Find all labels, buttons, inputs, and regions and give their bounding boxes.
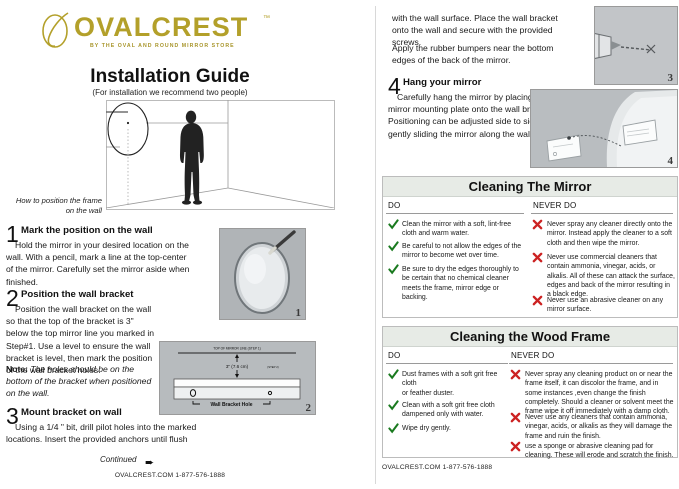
- red-x-icon: [532, 295, 543, 306]
- step-2-note: Note: The holes should be on the bottom …: [6, 363, 158, 400]
- svg-text:3" (7.6 cm): 3" (7.6 cm): [226, 364, 249, 369]
- photo-1-caption: 1: [296, 307, 302, 319]
- brand-tagline: BY THE OVAL AND ROUND MIRROR STORE: [90, 43, 235, 49]
- green-check-icon: [388, 423, 399, 434]
- frame-do-item-3: Wipe dry gently.: [402, 424, 506, 433]
- care-panel-mirror: Cleaning The Mirror DO NEVER DO Clean th…: [382, 176, 678, 318]
- frame-do-rule: [386, 363, 508, 364]
- photo-step-4: 4: [530, 89, 678, 168]
- green-check-icon: [388, 369, 399, 380]
- arrow-right-icon: ➨: [145, 456, 154, 469]
- mirror-do-rule: [386, 213, 524, 214]
- photo-step-3: 3: [594, 6, 678, 85]
- oval-monogram-icon: [38, 10, 78, 50]
- care-panel-frame-title: Cleaning the Wood Frame: [383, 327, 677, 347]
- frame-never-item-3: use a sponge or abrasive cleaning pad fo…: [525, 442, 675, 461]
- green-check-icon: [388, 400, 399, 411]
- column-divider: [375, 6, 376, 484]
- person-silhouette: [180, 111, 204, 205]
- footer-left: OVALCREST.COM 1-877-576-1888: [0, 472, 340, 479]
- photo-3-caption: 3: [668, 72, 674, 84]
- continued-paragraph-2: Apply the rubber bumpers near the bottom…: [392, 42, 574, 66]
- drill-into-wall-photo: [595, 7, 677, 84]
- diagram-caption: How to position the frame on the wall: [6, 196, 102, 217]
- mirror-do-item-3: Be sure to dry the edges thoroughly to b…: [402, 265, 524, 302]
- hanging-mirror-on-bracket-photo: [531, 90, 677, 167]
- care-panel-mirror-title: Cleaning The Mirror: [383, 177, 677, 197]
- frame-never-item-1: Never spray any cleaning product on or n…: [525, 370, 675, 417]
- mirror-never-item-2: Never use commercial cleaners that conta…: [547, 253, 675, 300]
- red-x-icon: [532, 252, 543, 263]
- step-2-heading: Position the wall bracket: [21, 289, 134, 300]
- footer-right: OVALCREST.COM 1-877-576-1888: [382, 464, 492, 471]
- brand-logo: OVALCREST ™ BY THE OVAL AND ROUND MIRROR…: [38, 8, 268, 52]
- step-4-heading: Hang your mirror: [403, 77, 481, 88]
- page-title: Installation Guide: [0, 66, 340, 88]
- frame-do-item-1: Dust frames with a soft grit free cloth …: [402, 370, 506, 398]
- mirror-never-item-3: Never use an abrasive cleaner on any mir…: [547, 296, 675, 315]
- step-3-heading: Mount bracket on wall: [21, 407, 122, 418]
- mirror-neverdo-label: NEVER DO: [533, 201, 576, 210]
- wall-bracket-diagram: TOP OF MIRROR LINE (STEP 1) 3" (7.6 cm) …: [160, 342, 315, 414]
- frame-neverdo-rule: [509, 363, 673, 364]
- svg-text:(STEP 2): (STEP 2): [267, 365, 279, 369]
- green-check-icon: [388, 219, 399, 230]
- frame-neverdo-label: NEVER DO: [511, 351, 554, 360]
- photo-4-caption: 4: [668, 155, 674, 167]
- red-x-icon: [510, 441, 521, 452]
- care-panel-wood-frame: Cleaning the Wood Frame DO NEVER DO Dust…: [382, 326, 678, 458]
- red-x-icon: [532, 219, 543, 230]
- page-subtitle: (For installation we recommend two peopl…: [0, 88, 340, 97]
- continued-label: Continued: [100, 455, 230, 464]
- right-column: with the wall surface. Place the wall br…: [378, 0, 679, 489]
- step-1-body: Hold the mirror in your desired location…: [6, 239, 194, 288]
- oval-mirror-with-pencil-photo: [220, 229, 305, 319]
- mirror-do-label: DO: [388, 201, 400, 210]
- step-1-heading: Mark the position on the wall: [21, 225, 153, 236]
- photo-2-caption: 2: [306, 402, 312, 414]
- installation-guide-page: OVALCREST ™ BY THE OVAL AND ROUND MIRROR…: [0, 0, 679, 489]
- frame-do-item-2: Clean with a soft grit free cloth dampen…: [402, 401, 506, 420]
- mirror-do-item-1: Clean the mirror with a soft, lint-free …: [402, 220, 522, 239]
- svg-text:TOP OF MIRROR LINE (STEP 1): TOP OF MIRROR LINE (STEP 1): [213, 347, 260, 351]
- green-check-icon: [388, 241, 399, 252]
- left-column: OVALCREST ™ BY THE OVAL AND ROUND MIRROR…: [0, 0, 374, 489]
- photo-step-2: TOP OF MIRROR LINE (STEP 1) 3" (7.6 cm) …: [159, 341, 316, 415]
- brand-wordmark: OVALCREST: [74, 14, 248, 41]
- red-x-icon: [510, 412, 521, 423]
- red-x-icon: [510, 369, 521, 380]
- room-perspective-diagram: [106, 100, 334, 208]
- green-check-icon: [388, 264, 399, 275]
- mirror-neverdo-rule: [531, 213, 673, 214]
- photo-step-1: 1: [219, 228, 306, 320]
- svg-text:Wall Bracket Hole: Wall Bracket Hole: [210, 402, 252, 408]
- mirror-do-item-2: Be careful to not allow the edges of the…: [402, 242, 524, 261]
- trademark-symbol: ™: [263, 15, 270, 22]
- frame-do-label: DO: [388, 351, 400, 360]
- mirror-never-item-1: Never spray any cleaner directly onto th…: [547, 220, 673, 248]
- frame-never-item-2: Never use any cleaners that contain ammo…: [525, 413, 675, 441]
- step-3-body: Using a 1/4 " bit, drill pilot holes int…: [6, 421, 200, 445]
